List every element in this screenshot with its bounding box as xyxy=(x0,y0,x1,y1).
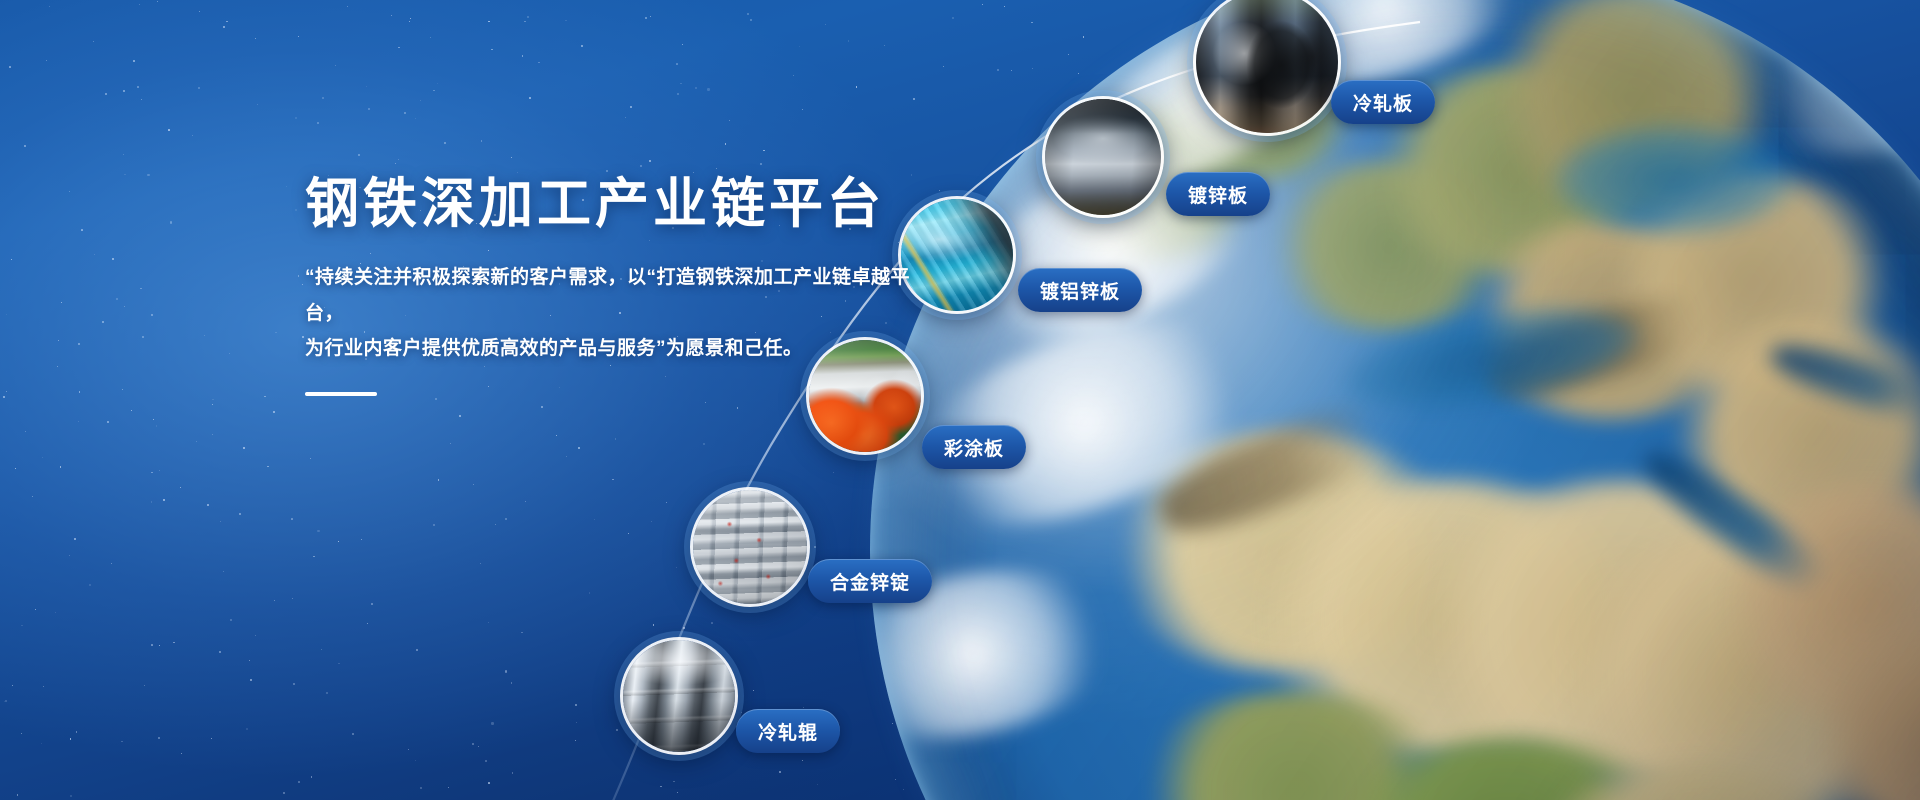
product-thumb-0[interactable] xyxy=(1193,0,1341,136)
thumb-gloss-5 xyxy=(623,640,735,752)
hero-subtitle-line-2: 为行业内客户提供优质高效的产品与服务”为愿景和己任。 xyxy=(305,331,925,366)
title-divider xyxy=(305,392,377,396)
hero-banner: 冷轧板 镀锌板 镀铝锌板 彩涂板 xyxy=(0,0,1920,800)
hero-subtitle-line-1: “持续关注并积极探索新的客户需求，以“打造钢铁深加工产业链卓越平台， xyxy=(305,260,925,330)
product-label-4[interactable]: 合金锌锭 xyxy=(808,559,932,603)
page-title: 钢铁深加工产业链平台 xyxy=(305,175,925,234)
product-label-2[interactable]: 镀铝锌板 xyxy=(1018,268,1142,312)
hero-subtitle: “持续关注并积极探索新的客户需求，以“打造钢铁深加工产业链卓越平台， 为行业内客… xyxy=(305,260,925,365)
product-label-5[interactable]: 冷轧辊 xyxy=(736,709,840,753)
product-label-1[interactable]: 镀锌板 xyxy=(1166,172,1270,216)
product-thumb-1[interactable] xyxy=(1042,96,1164,218)
product-label-text-3: 彩涂板 xyxy=(944,434,1004,461)
product-label-0[interactable]: 冷轧板 xyxy=(1331,80,1435,124)
product-node-5[interactable]: 冷轧辊 xyxy=(620,637,738,755)
thumb-gloss-4 xyxy=(693,490,807,604)
product-label-3[interactable]: 彩涂板 xyxy=(922,425,1026,469)
hero-copy: 钢铁深加工产业链平台 “持续关注并积极探索新的客户需求，以“打造钢铁深加工产业链… xyxy=(305,175,925,396)
product-thumb-4[interactable] xyxy=(690,487,810,607)
product-label-text-2: 镀铝锌板 xyxy=(1040,277,1120,304)
product-label-text-5: 冷轧辊 xyxy=(758,718,818,745)
thumb-gloss-1 xyxy=(1045,99,1161,215)
product-label-text-0: 冷轧板 xyxy=(1353,89,1413,116)
product-label-text-1: 镀锌板 xyxy=(1188,181,1248,208)
product-thumb-5[interactable] xyxy=(620,637,738,755)
product-node-4[interactable]: 合金锌锭 xyxy=(690,487,810,607)
product-node-0[interactable]: 冷轧板 xyxy=(1193,0,1341,136)
product-node-1[interactable]: 镀锌板 xyxy=(1042,96,1164,218)
product-label-text-4: 合金锌锭 xyxy=(830,568,910,595)
